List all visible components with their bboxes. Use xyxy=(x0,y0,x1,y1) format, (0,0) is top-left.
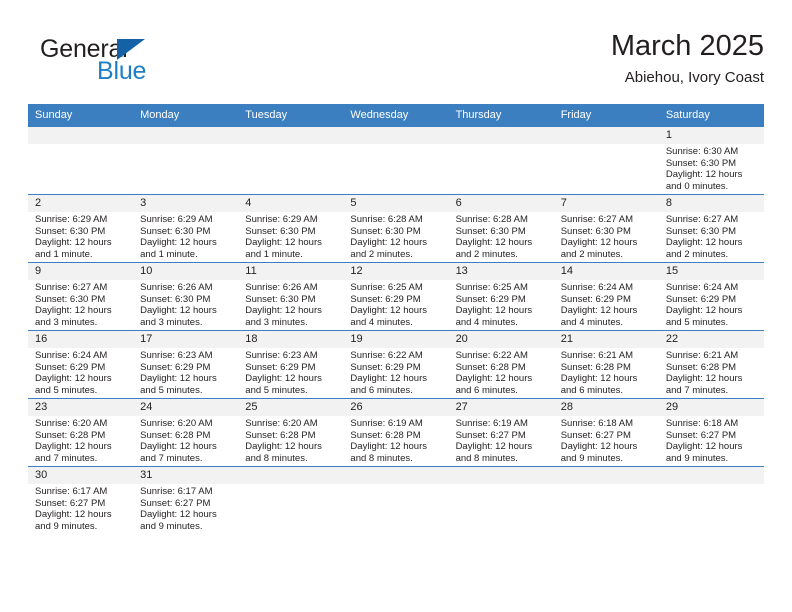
sunrise-time: Sunrise: 6:21 AM xyxy=(666,350,760,362)
day-cell-content: 1Sunrise: 6:30 AMSunset: 6:30 PMDaylight… xyxy=(659,127,764,194)
calendar-day-cell[interactable]: 1Sunrise: 6:30 AMSunset: 6:30 PMDaylight… xyxy=(659,127,764,195)
calendar-day-cell[interactable]: 29Sunrise: 6:18 AMSunset: 6:27 PMDayligh… xyxy=(659,399,764,467)
calendar-day-cell[interactable]: 23Sunrise: 6:20 AMSunset: 6:28 PMDayligh… xyxy=(28,399,133,467)
calendar-day-cell-empty xyxy=(343,467,448,535)
sunset-time: Sunset: 6:30 PM xyxy=(35,226,129,238)
calendar-day-cell[interactable]: 6Sunrise: 6:28 AMSunset: 6:30 PMDaylight… xyxy=(449,195,554,263)
day-cell-content xyxy=(659,467,764,534)
logo-text-blue: Blue xyxy=(97,58,146,84)
calendar-day-cell[interactable]: 20Sunrise: 6:22 AMSunset: 6:28 PMDayligh… xyxy=(449,331,554,399)
calendar-day-cell-empty xyxy=(238,127,343,195)
sunset-time: Sunset: 6:27 PM xyxy=(456,430,550,442)
page-header: General Blue March 2025 Abiehou, Ivory C… xyxy=(28,28,764,94)
sunrise-time: Sunrise: 6:18 AM xyxy=(666,418,760,430)
daylight-duration-line2: and 4 minutes. xyxy=(561,317,655,329)
sunrise-time: Sunrise: 6:27 AM xyxy=(666,214,760,226)
daylight-duration-line2: and 8 minutes. xyxy=(456,453,550,465)
day-cell-content xyxy=(554,467,659,534)
daylight-duration-line2: and 0 minutes. xyxy=(666,181,760,193)
day-cell-content: 16Sunrise: 6:24 AMSunset: 6:29 PMDayligh… xyxy=(28,331,133,398)
day-number: 27 xyxy=(449,399,554,416)
calendar-day-cell[interactable]: 5Sunrise: 6:28 AMSunset: 6:30 PMDaylight… xyxy=(343,195,448,263)
daylight-duration-line2: and 9 minutes. xyxy=(35,521,129,533)
day-number: 20 xyxy=(449,331,554,348)
sunset-time: Sunset: 6:29 PM xyxy=(561,294,655,306)
calendar-day-cell-empty xyxy=(28,127,133,195)
sunrise-time: Sunrise: 6:21 AM xyxy=(561,350,655,362)
sunrise-time: Sunrise: 6:25 AM xyxy=(456,282,550,294)
calendar-day-cell-empty xyxy=(449,467,554,535)
day-details: Sunrise: 6:27 AMSunset: 6:30 PMDaylight:… xyxy=(554,212,659,260)
day-number: 29 xyxy=(659,399,764,416)
daylight-duration-line2: and 3 minutes. xyxy=(140,317,234,329)
day-details: Sunrise: 6:22 AMSunset: 6:28 PMDaylight:… xyxy=(449,348,554,396)
calendar-day-cell-empty xyxy=(133,127,238,195)
daylight-duration-line1: Daylight: 12 hours xyxy=(350,305,444,317)
day-details: Sunrise: 6:17 AMSunset: 6:27 PMDaylight:… xyxy=(133,484,238,532)
day-cell-content: 24Sunrise: 6:20 AMSunset: 6:28 PMDayligh… xyxy=(133,399,238,466)
daylight-duration-line2: and 2 minutes. xyxy=(666,249,760,261)
calendar-day-cell-empty xyxy=(554,127,659,195)
calendar-day-cell[interactable]: 16Sunrise: 6:24 AMSunset: 6:29 PMDayligh… xyxy=(28,331,133,399)
day-details: Sunrise: 6:29 AMSunset: 6:30 PMDaylight:… xyxy=(133,212,238,260)
daylight-duration-line2: and 2 minutes. xyxy=(350,249,444,261)
day-cell-content: 4Sunrise: 6:29 AMSunset: 6:30 PMDaylight… xyxy=(238,195,343,262)
day-cell-content xyxy=(343,127,448,194)
day-number xyxy=(238,127,343,144)
day-details: Sunrise: 6:24 AMSunset: 6:29 PMDaylight:… xyxy=(28,348,133,396)
daylight-duration-line1: Daylight: 12 hours xyxy=(35,509,129,521)
daylight-duration-line2: and 1 minute. xyxy=(245,249,339,261)
sunset-time: Sunset: 6:28 PM xyxy=(666,362,760,374)
day-cell-content: 31Sunrise: 6:17 AMSunset: 6:27 PMDayligh… xyxy=(133,467,238,534)
daylight-duration-line2: and 3 minutes. xyxy=(35,317,129,329)
day-cell-content: 20Sunrise: 6:22 AMSunset: 6:28 PMDayligh… xyxy=(449,331,554,398)
daylight-duration-line1: Daylight: 12 hours xyxy=(666,237,760,249)
daylight-duration-line2: and 6 minutes. xyxy=(561,385,655,397)
daylight-duration-line1: Daylight: 12 hours xyxy=(456,373,550,385)
daylight-duration-line1: Daylight: 12 hours xyxy=(561,305,655,317)
day-cell-content: 10Sunrise: 6:26 AMSunset: 6:30 PMDayligh… xyxy=(133,263,238,330)
day-cell-content: 9Sunrise: 6:27 AMSunset: 6:30 PMDaylight… xyxy=(28,263,133,330)
sunrise-time: Sunrise: 6:19 AM xyxy=(350,418,444,430)
day-details: Sunrise: 6:21 AMSunset: 6:28 PMDaylight:… xyxy=(554,348,659,396)
sunrise-time: Sunrise: 6:22 AM xyxy=(350,350,444,362)
daylight-duration-line2: and 3 minutes. xyxy=(245,317,339,329)
calendar-week-row: 16Sunrise: 6:24 AMSunset: 6:29 PMDayligh… xyxy=(28,331,764,399)
day-cell-content: 28Sunrise: 6:18 AMSunset: 6:27 PMDayligh… xyxy=(554,399,659,466)
sunset-time: Sunset: 6:30 PM xyxy=(456,226,550,238)
daylight-duration-line1: Daylight: 12 hours xyxy=(561,237,655,249)
day-cell-content: 25Sunrise: 6:20 AMSunset: 6:28 PMDayligh… xyxy=(238,399,343,466)
day-number xyxy=(554,127,659,144)
sunrise-sunset-calendar: Sunday Monday Tuesday Wednesday Thursday… xyxy=(28,104,764,534)
day-number: 21 xyxy=(554,331,659,348)
day-cell-content: 14Sunrise: 6:24 AMSunset: 6:29 PMDayligh… xyxy=(554,263,659,330)
daylight-duration-line1: Daylight: 12 hours xyxy=(456,305,550,317)
daylight-duration-line2: and 5 minutes. xyxy=(35,385,129,397)
weekday-header-sunday: Sunday xyxy=(28,104,133,127)
weekday-header-friday: Friday xyxy=(554,104,659,127)
sunset-time: Sunset: 6:30 PM xyxy=(245,294,339,306)
day-cell-content xyxy=(238,127,343,194)
weekday-header-wednesday: Wednesday xyxy=(343,104,448,127)
day-number xyxy=(133,127,238,144)
calendar-week-row: 2Sunrise: 6:29 AMSunset: 6:30 PMDaylight… xyxy=(28,195,764,263)
sunrise-time: Sunrise: 6:29 AM xyxy=(140,214,234,226)
daylight-duration-line2: and 5 minutes. xyxy=(666,317,760,329)
day-details: Sunrise: 6:25 AMSunset: 6:29 PMDaylight:… xyxy=(449,280,554,328)
calendar-day-cell[interactable]: 2Sunrise: 6:29 AMSunset: 6:30 PMDaylight… xyxy=(28,195,133,263)
day-details: Sunrise: 6:18 AMSunset: 6:27 PMDaylight:… xyxy=(554,416,659,464)
sunset-time: Sunset: 6:30 PM xyxy=(245,226,339,238)
day-number: 30 xyxy=(28,467,133,484)
day-details: Sunrise: 6:23 AMSunset: 6:29 PMDaylight:… xyxy=(238,348,343,396)
day-cell-content xyxy=(238,467,343,534)
sunrise-time: Sunrise: 6:26 AM xyxy=(140,282,234,294)
day-cell-content: 22Sunrise: 6:21 AMSunset: 6:28 PMDayligh… xyxy=(659,331,764,398)
daylight-duration-line1: Daylight: 12 hours xyxy=(140,305,234,317)
daylight-duration-line1: Daylight: 12 hours xyxy=(350,237,444,249)
day-number xyxy=(238,467,343,484)
daylight-duration-line2: and 4 minutes. xyxy=(350,317,444,329)
day-details: Sunrise: 6:24 AMSunset: 6:29 PMDaylight:… xyxy=(659,280,764,328)
calendar-week-row: 1Sunrise: 6:30 AMSunset: 6:30 PMDaylight… xyxy=(28,127,764,195)
calendar-day-cell[interactable]: 11Sunrise: 6:26 AMSunset: 6:30 PMDayligh… xyxy=(238,263,343,331)
day-number xyxy=(343,467,448,484)
day-number: 1 xyxy=(659,127,764,144)
sunrise-time: Sunrise: 6:24 AM xyxy=(666,282,760,294)
day-cell-content: 12Sunrise: 6:25 AMSunset: 6:29 PMDayligh… xyxy=(343,263,448,330)
calendar-day-cell[interactable]: 22Sunrise: 6:21 AMSunset: 6:28 PMDayligh… xyxy=(659,331,764,399)
sunset-time: Sunset: 6:30 PM xyxy=(35,294,129,306)
calendar-day-cell[interactable]: 7Sunrise: 6:27 AMSunset: 6:30 PMDaylight… xyxy=(554,195,659,263)
sunrise-time: Sunrise: 6:17 AM xyxy=(35,486,129,498)
day-number xyxy=(449,127,554,144)
daylight-duration-line1: Daylight: 12 hours xyxy=(140,237,234,249)
daylight-duration-line2: and 1 minute. xyxy=(140,249,234,261)
daylight-duration-line2: and 6 minutes. xyxy=(350,385,444,397)
day-number: 31 xyxy=(133,467,238,484)
sunset-time: Sunset: 6:30 PM xyxy=(140,226,234,238)
day-number: 25 xyxy=(238,399,343,416)
daylight-duration-line1: Daylight: 12 hours xyxy=(245,441,339,453)
day-number: 9 xyxy=(28,263,133,280)
calendar-day-cell[interactable]: 19Sunrise: 6:22 AMSunset: 6:29 PMDayligh… xyxy=(343,331,448,399)
weekday-header-row: Sunday Monday Tuesday Wednesday Thursday… xyxy=(28,104,764,127)
day-cell-content xyxy=(449,467,554,534)
sunset-time: Sunset: 6:28 PM xyxy=(35,430,129,442)
day-details: Sunrise: 6:29 AMSunset: 6:30 PMDaylight:… xyxy=(28,212,133,260)
day-details: Sunrise: 6:23 AMSunset: 6:29 PMDaylight:… xyxy=(133,348,238,396)
day-details: Sunrise: 6:18 AMSunset: 6:27 PMDaylight:… xyxy=(659,416,764,464)
day-cell-content: 30Sunrise: 6:17 AMSunset: 6:27 PMDayligh… xyxy=(28,467,133,534)
daylight-duration-line2: and 6 minutes. xyxy=(456,385,550,397)
daylight-duration-line2: and 5 minutes. xyxy=(140,385,234,397)
calendar-day-cell[interactable]: 30Sunrise: 6:17 AMSunset: 6:27 PMDayligh… xyxy=(28,467,133,535)
page-title: March 2025 xyxy=(611,28,764,64)
daylight-duration-line1: Daylight: 12 hours xyxy=(245,373,339,385)
daylight-duration-line1: Daylight: 12 hours xyxy=(666,169,760,181)
daylight-duration-line2: and 9 minutes. xyxy=(561,453,655,465)
sunrise-time: Sunrise: 6:20 AM xyxy=(245,418,339,430)
day-details: Sunrise: 6:29 AMSunset: 6:30 PMDaylight:… xyxy=(238,212,343,260)
daylight-duration-line2: and 7 minutes. xyxy=(666,385,760,397)
day-details: Sunrise: 6:17 AMSunset: 6:27 PMDaylight:… xyxy=(28,484,133,532)
sunrise-time: Sunrise: 6:24 AM xyxy=(561,282,655,294)
daylight-duration-line2: and 7 minutes. xyxy=(140,453,234,465)
daylight-duration-line1: Daylight: 12 hours xyxy=(35,441,129,453)
day-number: 8 xyxy=(659,195,764,212)
day-cell-content: 17Sunrise: 6:23 AMSunset: 6:29 PMDayligh… xyxy=(133,331,238,398)
day-cell-content xyxy=(449,127,554,194)
day-cell-content: 5Sunrise: 6:28 AMSunset: 6:30 PMDaylight… xyxy=(343,195,448,262)
sunrise-time: Sunrise: 6:28 AM xyxy=(456,214,550,226)
sunset-time: Sunset: 6:30 PM xyxy=(561,226,655,238)
sunset-time: Sunset: 6:27 PM xyxy=(35,498,129,510)
day-number: 13 xyxy=(449,263,554,280)
sunrise-time: Sunrise: 6:18 AM xyxy=(561,418,655,430)
sunrise-time: Sunrise: 6:20 AM xyxy=(35,418,129,430)
sunrise-time: Sunrise: 6:24 AM xyxy=(35,350,129,362)
day-number: 15 xyxy=(659,263,764,280)
day-details: Sunrise: 6:20 AMSunset: 6:28 PMDaylight:… xyxy=(28,416,133,464)
calendar-day-cell[interactable]: 26Sunrise: 6:19 AMSunset: 6:28 PMDayligh… xyxy=(343,399,448,467)
calendar-day-cell[interactable]: 4Sunrise: 6:29 AMSunset: 6:30 PMDaylight… xyxy=(238,195,343,263)
day-number: 16 xyxy=(28,331,133,348)
sunrise-time: Sunrise: 6:29 AM xyxy=(245,214,339,226)
weekday-header-monday: Monday xyxy=(133,104,238,127)
daylight-duration-line2: and 1 minute. xyxy=(35,249,129,261)
day-details: Sunrise: 6:28 AMSunset: 6:30 PMDaylight:… xyxy=(449,212,554,260)
daylight-duration-line1: Daylight: 12 hours xyxy=(245,237,339,249)
calendar-day-cell-empty xyxy=(343,127,448,195)
daylight-duration-line1: Daylight: 12 hours xyxy=(140,441,234,453)
day-number xyxy=(28,127,133,144)
calendar-day-cell[interactable]: 25Sunrise: 6:20 AMSunset: 6:28 PMDayligh… xyxy=(238,399,343,467)
sunset-time: Sunset: 6:28 PM xyxy=(245,430,339,442)
calendar-day-cell[interactable]: 8Sunrise: 6:27 AMSunset: 6:30 PMDaylight… xyxy=(659,195,764,263)
day-details: Sunrise: 6:21 AMSunset: 6:28 PMDaylight:… xyxy=(659,348,764,396)
day-number xyxy=(659,467,764,484)
daylight-duration-line2: and 9 minutes. xyxy=(666,453,760,465)
day-cell-content: 23Sunrise: 6:20 AMSunset: 6:28 PMDayligh… xyxy=(28,399,133,466)
page-subtitle: Abiehou, Ivory Coast xyxy=(611,67,764,89)
day-details: Sunrise: 6:26 AMSunset: 6:30 PMDaylight:… xyxy=(133,280,238,328)
calendar-day-cell-empty xyxy=(554,467,659,535)
day-number: 2 xyxy=(28,195,133,212)
daylight-duration-line1: Daylight: 12 hours xyxy=(140,509,234,521)
weekday-header-saturday: Saturday xyxy=(659,104,764,127)
calendar-day-cell[interactable]: 28Sunrise: 6:18 AMSunset: 6:27 PMDayligh… xyxy=(554,399,659,467)
sunset-time: Sunset: 6:29 PM xyxy=(350,362,444,374)
day-details: Sunrise: 6:22 AMSunset: 6:29 PMDaylight:… xyxy=(343,348,448,396)
day-cell-content: 19Sunrise: 6:22 AMSunset: 6:29 PMDayligh… xyxy=(343,331,448,398)
sunset-time: Sunset: 6:30 PM xyxy=(666,158,760,170)
sunrise-time: Sunrise: 6:28 AM xyxy=(350,214,444,226)
day-details: Sunrise: 6:27 AMSunset: 6:30 PMDaylight:… xyxy=(659,212,764,260)
day-number: 18 xyxy=(238,331,343,348)
daylight-duration-line1: Daylight: 12 hours xyxy=(35,237,129,249)
calendar-week-row: 23Sunrise: 6:20 AMSunset: 6:28 PMDayligh… xyxy=(28,399,764,467)
sunset-time: Sunset: 6:27 PM xyxy=(666,430,760,442)
sunrise-time: Sunrise: 6:26 AM xyxy=(245,282,339,294)
day-details: Sunrise: 6:20 AMSunset: 6:28 PMDaylight:… xyxy=(133,416,238,464)
sunrise-time: Sunrise: 6:30 AM xyxy=(666,146,760,158)
day-cell-content: 29Sunrise: 6:18 AMSunset: 6:27 PMDayligh… xyxy=(659,399,764,466)
sunset-time: Sunset: 6:28 PM xyxy=(350,430,444,442)
day-number: 22 xyxy=(659,331,764,348)
daylight-duration-line2: and 9 minutes. xyxy=(140,521,234,533)
day-details: Sunrise: 6:26 AMSunset: 6:30 PMDaylight:… xyxy=(238,280,343,328)
day-details: Sunrise: 6:30 AMSunset: 6:30 PMDaylight:… xyxy=(659,144,764,192)
day-details: Sunrise: 6:28 AMSunset: 6:30 PMDaylight:… xyxy=(343,212,448,260)
daylight-duration-line1: Daylight: 12 hours xyxy=(666,305,760,317)
daylight-duration-line2: and 8 minutes. xyxy=(350,453,444,465)
calendar-day-cell[interactable]: 9Sunrise: 6:27 AMSunset: 6:30 PMDaylight… xyxy=(28,263,133,331)
day-number: 12 xyxy=(343,263,448,280)
day-cell-content xyxy=(28,127,133,194)
calendar-day-cell[interactable]: 17Sunrise: 6:23 AMSunset: 6:29 PMDayligh… xyxy=(133,331,238,399)
day-details: Sunrise: 6:24 AMSunset: 6:29 PMDaylight:… xyxy=(554,280,659,328)
day-number xyxy=(449,467,554,484)
day-cell-content: 18Sunrise: 6:23 AMSunset: 6:29 PMDayligh… xyxy=(238,331,343,398)
sunrise-time: Sunrise: 6:23 AM xyxy=(245,350,339,362)
day-number: 10 xyxy=(133,263,238,280)
daylight-duration-line1: Daylight: 12 hours xyxy=(140,373,234,385)
day-details: Sunrise: 6:20 AMSunset: 6:28 PMDaylight:… xyxy=(238,416,343,464)
day-number: 11 xyxy=(238,263,343,280)
sunset-time: Sunset: 6:29 PM xyxy=(350,294,444,306)
daylight-duration-line1: Daylight: 12 hours xyxy=(350,441,444,453)
sunrise-time: Sunrise: 6:17 AM xyxy=(140,486,234,498)
calendar-week-row: 30Sunrise: 6:17 AMSunset: 6:27 PMDayligh… xyxy=(28,467,764,535)
day-cell-content: 11Sunrise: 6:26 AMSunset: 6:30 PMDayligh… xyxy=(238,263,343,330)
daylight-duration-line2: and 2 minutes. xyxy=(561,249,655,261)
day-number: 4 xyxy=(238,195,343,212)
day-number xyxy=(554,467,659,484)
daylight-duration-line1: Daylight: 12 hours xyxy=(456,441,550,453)
day-details: Sunrise: 6:19 AMSunset: 6:28 PMDaylight:… xyxy=(343,416,448,464)
daylight-duration-line1: Daylight: 12 hours xyxy=(666,373,760,385)
sunset-time: Sunset: 6:30 PM xyxy=(140,294,234,306)
calendar-day-cell[interactable]: 21Sunrise: 6:21 AMSunset: 6:28 PMDayligh… xyxy=(554,331,659,399)
day-number: 19 xyxy=(343,331,448,348)
day-number: 3 xyxy=(133,195,238,212)
sunset-time: Sunset: 6:29 PM xyxy=(456,294,550,306)
sunrise-time: Sunrise: 6:23 AM xyxy=(140,350,234,362)
sunset-time: Sunset: 6:29 PM xyxy=(666,294,760,306)
sunrise-time: Sunrise: 6:20 AM xyxy=(140,418,234,430)
day-cell-content: 27Sunrise: 6:19 AMSunset: 6:27 PMDayligh… xyxy=(449,399,554,466)
calendar-body: 1Sunrise: 6:30 AMSunset: 6:30 PMDaylight… xyxy=(28,127,764,535)
day-cell-content: 13Sunrise: 6:25 AMSunset: 6:29 PMDayligh… xyxy=(449,263,554,330)
weekday-header-thursday: Thursday xyxy=(449,104,554,127)
weekday-header-tuesday: Tuesday xyxy=(238,104,343,127)
day-cell-content xyxy=(343,467,448,534)
daylight-duration-line2: and 2 minutes. xyxy=(456,249,550,261)
daylight-duration-line1: Daylight: 12 hours xyxy=(35,305,129,317)
daylight-duration-line1: Daylight: 12 hours xyxy=(561,441,655,453)
day-number: 14 xyxy=(554,263,659,280)
day-details: Sunrise: 6:27 AMSunset: 6:30 PMDaylight:… xyxy=(28,280,133,328)
sunset-time: Sunset: 6:29 PM xyxy=(35,362,129,374)
day-number: 17 xyxy=(133,331,238,348)
calendar-day-cell-empty xyxy=(449,127,554,195)
title-block: March 2025 Abiehou, Ivory Coast xyxy=(611,28,764,89)
calendar-day-cell[interactable]: 18Sunrise: 6:23 AMSunset: 6:29 PMDayligh… xyxy=(238,331,343,399)
sunrise-time: Sunrise: 6:19 AM xyxy=(456,418,550,430)
day-number: 6 xyxy=(449,195,554,212)
daylight-duration-line1: Daylight: 12 hours xyxy=(35,373,129,385)
daylight-duration-line1: Daylight: 12 hours xyxy=(666,441,760,453)
calendar-day-cell-empty xyxy=(659,467,764,535)
calendar-day-cell[interactable]: 14Sunrise: 6:24 AMSunset: 6:29 PMDayligh… xyxy=(554,263,659,331)
daylight-duration-line2: and 4 minutes. xyxy=(456,317,550,329)
sunset-time: Sunset: 6:28 PM xyxy=(456,362,550,374)
day-cell-content: 3Sunrise: 6:29 AMSunset: 6:30 PMDaylight… xyxy=(133,195,238,262)
sunset-time: Sunset: 6:28 PM xyxy=(561,362,655,374)
day-cell-content: 7Sunrise: 6:27 AMSunset: 6:30 PMDaylight… xyxy=(554,195,659,262)
calendar-day-cell[interactable]: 15Sunrise: 6:24 AMSunset: 6:29 PMDayligh… xyxy=(659,263,764,331)
day-cell-content: 26Sunrise: 6:19 AMSunset: 6:28 PMDayligh… xyxy=(343,399,448,466)
day-details: Sunrise: 6:25 AMSunset: 6:29 PMDaylight:… xyxy=(343,280,448,328)
day-cell-content: 2Sunrise: 6:29 AMSunset: 6:30 PMDaylight… xyxy=(28,195,133,262)
calendar-day-cell-empty xyxy=(238,467,343,535)
calendar-day-cell[interactable]: 27Sunrise: 6:19 AMSunset: 6:27 PMDayligh… xyxy=(449,399,554,467)
calendar-day-cell[interactable]: 24Sunrise: 6:20 AMSunset: 6:28 PMDayligh… xyxy=(133,399,238,467)
sunrise-time: Sunrise: 6:27 AM xyxy=(561,214,655,226)
calendar-day-cell[interactable]: 3Sunrise: 6:29 AMSunset: 6:30 PMDaylight… xyxy=(133,195,238,263)
calendar-week-row: 9Sunrise: 6:27 AMSunset: 6:30 PMDaylight… xyxy=(28,263,764,331)
calendar-day-cell[interactable]: 13Sunrise: 6:25 AMSunset: 6:29 PMDayligh… xyxy=(449,263,554,331)
day-cell-content: 8Sunrise: 6:27 AMSunset: 6:30 PMDaylight… xyxy=(659,195,764,262)
sunset-time: Sunset: 6:29 PM xyxy=(140,362,234,374)
day-number: 5 xyxy=(343,195,448,212)
day-number: 23 xyxy=(28,399,133,416)
day-number: 28 xyxy=(554,399,659,416)
sunset-time: Sunset: 6:29 PM xyxy=(245,362,339,374)
day-cell-content: 21Sunrise: 6:21 AMSunset: 6:28 PMDayligh… xyxy=(554,331,659,398)
daylight-duration-line2: and 7 minutes. xyxy=(35,453,129,465)
day-number: 7 xyxy=(554,195,659,212)
daylight-duration-line1: Daylight: 12 hours xyxy=(245,305,339,317)
day-details: Sunrise: 6:19 AMSunset: 6:27 PMDaylight:… xyxy=(449,416,554,464)
sunset-time: Sunset: 6:30 PM xyxy=(350,226,444,238)
daylight-duration-line1: Daylight: 12 hours xyxy=(350,373,444,385)
sunset-time: Sunset: 6:27 PM xyxy=(561,430,655,442)
daylight-duration-line2: and 8 minutes. xyxy=(245,453,339,465)
day-number: 24 xyxy=(133,399,238,416)
day-cell-content: 6Sunrise: 6:28 AMSunset: 6:30 PMDaylight… xyxy=(449,195,554,262)
day-number xyxy=(343,127,448,144)
sunrise-time: Sunrise: 6:27 AM xyxy=(35,282,129,294)
calendar-day-cell[interactable]: 10Sunrise: 6:26 AMSunset: 6:30 PMDayligh… xyxy=(133,263,238,331)
day-cell-content xyxy=(133,127,238,194)
sunset-time: Sunset: 6:30 PM xyxy=(666,226,760,238)
calendar-day-cell[interactable]: 31Sunrise: 6:17 AMSunset: 6:27 PMDayligh… xyxy=(133,467,238,535)
sunrise-time: Sunrise: 6:29 AM xyxy=(35,214,129,226)
calendar-page: General Blue March 2025 Abiehou, Ivory C… xyxy=(0,0,792,612)
day-cell-content xyxy=(554,127,659,194)
sunrise-time: Sunrise: 6:25 AM xyxy=(350,282,444,294)
sunset-time: Sunset: 6:27 PM xyxy=(140,498,234,510)
calendar-day-cell[interactable]: 12Sunrise: 6:25 AMSunset: 6:29 PMDayligh… xyxy=(343,263,448,331)
general-blue-logo[interactable]: General Blue xyxy=(40,36,220,88)
daylight-duration-line1: Daylight: 12 hours xyxy=(561,373,655,385)
day-number: 26 xyxy=(343,399,448,416)
day-cell-content: 15Sunrise: 6:24 AMSunset: 6:29 PMDayligh… xyxy=(659,263,764,330)
